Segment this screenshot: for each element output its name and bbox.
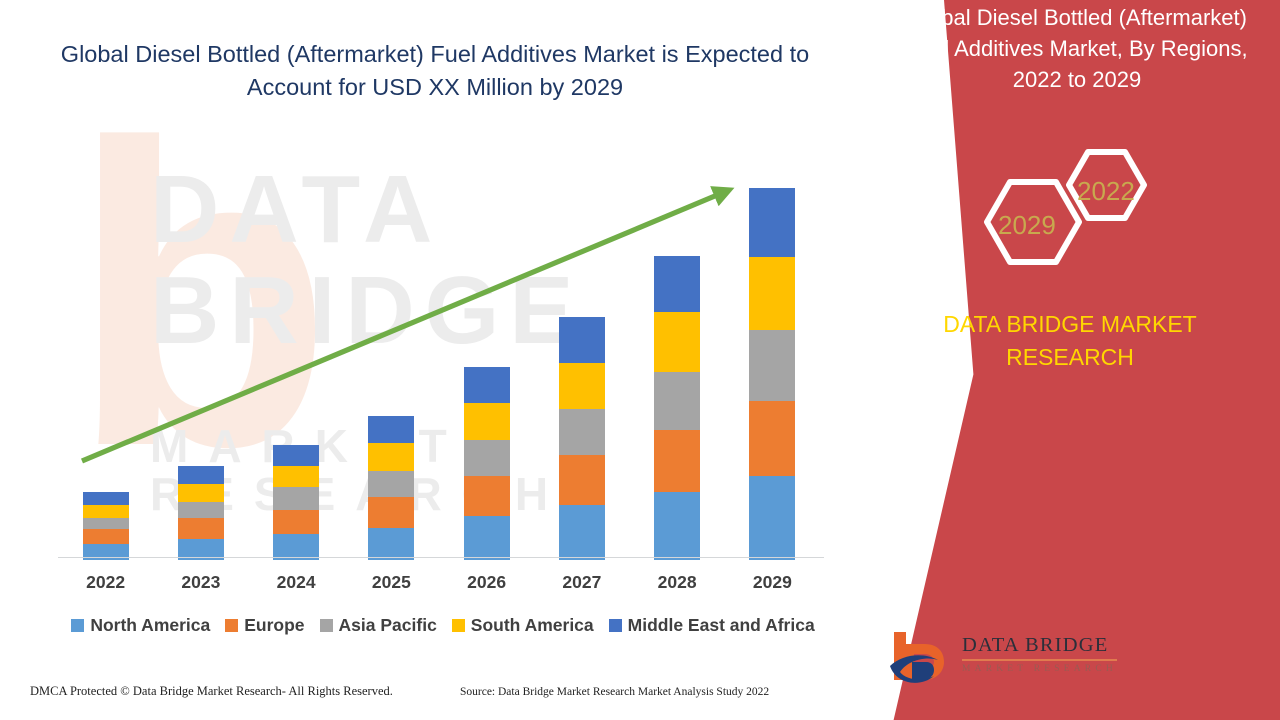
bar-segment-2025-middle-east-and-africa xyxy=(368,416,414,444)
bar-segment-2026-north-america xyxy=(464,516,510,560)
bar-segment-2022-asia-pacific xyxy=(83,518,129,529)
bar-segment-2027-middle-east-and-africa xyxy=(559,317,605,362)
logo-mark-icon xyxy=(880,622,960,702)
slide-root: b DATA BRIDGE MARKET RESEARCH Global Die… xyxy=(0,0,1280,720)
bar-segment-2029-north-america xyxy=(749,476,795,560)
chart-panel: b DATA BRIDGE MARKET RESEARCH Global Die… xyxy=(0,0,900,720)
bar-segment-2027-south-america xyxy=(559,363,605,410)
hexagon-2022-label: 2022 xyxy=(1077,176,1135,207)
bar-segment-2023-middle-east-and-africa xyxy=(178,466,224,484)
bar-segment-2026-south-america xyxy=(464,403,510,440)
legend-label: Asia Pacific xyxy=(339,615,437,636)
legend-swatch-icon xyxy=(320,619,333,632)
bar-segment-2024-middle-east-and-africa xyxy=(273,445,319,466)
chart-legend: North AmericaEuropeAsia PacificSouth Ame… xyxy=(58,615,828,636)
bar-segment-2023-south-america xyxy=(178,484,224,502)
x-axis-labels: 20222023202420252026202720282029 xyxy=(58,572,820,602)
legend-label: Middle East and Africa xyxy=(628,615,815,636)
bar-segment-2022-south-america xyxy=(83,505,129,518)
legend-item-asia-pacific[interactable]: Asia Pacific xyxy=(320,615,437,636)
bar-segment-2023-asia-pacific xyxy=(178,502,224,518)
bar-segment-2028-europe xyxy=(654,430,700,492)
logo-title: DATA BRIDGE xyxy=(962,634,1122,657)
bar-2025 xyxy=(368,416,414,560)
bar-segment-2023-europe xyxy=(178,518,224,539)
dmca-notice: DMCA Protected © Data Bridge Market Rese… xyxy=(30,684,393,699)
bar-segment-2022-middle-east-and-africa xyxy=(83,492,129,505)
bar-segment-2026-asia-pacific xyxy=(464,440,510,476)
bar-2029 xyxy=(749,188,795,560)
hexagon-badges: 2022 2029 xyxy=(970,148,1170,283)
data-bridge-logo: DATA BRIDGE MARKET RESEARCH xyxy=(880,622,1120,706)
chart-plot-area xyxy=(58,150,820,560)
bar-2027 xyxy=(559,317,605,560)
source-note: Source: Data Bridge Market Research Mark… xyxy=(460,686,769,698)
bar-2026 xyxy=(464,367,510,560)
bar-segment-2024-europe xyxy=(273,510,319,534)
bar-segment-2026-middle-east-and-africa xyxy=(464,367,510,403)
x-axis-label-2029: 2029 xyxy=(737,572,807,593)
bar-segment-2025-north-america xyxy=(368,528,414,560)
legend-item-middle-east-and-africa[interactable]: Middle East and Africa xyxy=(609,615,815,636)
x-axis-label-2027: 2027 xyxy=(547,572,617,593)
x-axis-label-2022: 2022 xyxy=(71,572,141,593)
bar-segment-2028-north-america xyxy=(654,492,700,560)
legend-item-north-america[interactable]: North America xyxy=(71,615,210,636)
bar-segment-2029-middle-east-and-africa xyxy=(749,188,795,258)
x-axis-label-2026: 2026 xyxy=(452,572,522,593)
legend-label: Europe xyxy=(244,615,304,636)
legend-swatch-icon xyxy=(71,619,84,632)
bar-2022 xyxy=(83,492,129,560)
legend-item-europe[interactable]: Europe xyxy=(225,615,304,636)
bar-segment-2027-asia-pacific xyxy=(559,409,605,454)
legend-label: North America xyxy=(90,615,210,636)
x-axis-label-2025: 2025 xyxy=(356,572,426,593)
right-panel-title: Global Diesel Bottled (Aftermarket) Fuel… xyxy=(860,2,1280,96)
bar-2028 xyxy=(654,256,700,560)
bar-segment-2028-south-america xyxy=(654,312,700,372)
bar-segment-2025-europe xyxy=(368,497,414,528)
logo-wordmark: DATA BRIDGE MARKET RESEARCH xyxy=(962,634,1122,674)
chart-title: Global Diesel Bottled (Aftermarket) Fuel… xyxy=(40,38,830,105)
x-axis-line xyxy=(58,557,824,558)
bar-segment-2027-europe xyxy=(559,455,605,505)
x-axis-label-2023: 2023 xyxy=(166,572,236,593)
bar-segment-2027-north-america xyxy=(559,505,605,560)
bar-segment-2029-europe xyxy=(749,401,795,475)
logo-subtitle: MARKET RESEARCH xyxy=(962,664,1122,674)
bar-2024 xyxy=(273,445,319,560)
bar-segment-2024-asia-pacific xyxy=(273,487,319,510)
bar-segment-2025-asia-pacific xyxy=(368,471,414,497)
legend-swatch-icon xyxy=(609,619,622,632)
legend-swatch-icon xyxy=(452,619,465,632)
bar-segment-2024-south-america xyxy=(273,466,319,487)
bar-segment-2026-europe xyxy=(464,476,510,516)
logo-divider xyxy=(962,659,1117,661)
bar-segment-2029-asia-pacific xyxy=(749,330,795,401)
legend-item-south-america[interactable]: South America xyxy=(452,615,594,636)
hexagon-2029-label: 2029 xyxy=(998,210,1056,241)
bar-segment-2028-asia-pacific xyxy=(654,372,700,430)
bar-segment-2029-south-america xyxy=(749,257,795,330)
bar-2023 xyxy=(178,466,224,560)
brand-name: DATA BRIDGE MARKET RESEARCH xyxy=(860,308,1280,373)
bar-segment-2022-europe xyxy=(83,529,129,544)
x-axis-label-2024: 2024 xyxy=(261,572,331,593)
bar-segment-2028-middle-east-and-africa xyxy=(654,256,700,313)
bar-segment-2025-south-america xyxy=(368,443,414,471)
x-axis-label-2028: 2028 xyxy=(642,572,712,593)
legend-swatch-icon xyxy=(225,619,238,632)
legend-label: South America xyxy=(471,615,594,636)
